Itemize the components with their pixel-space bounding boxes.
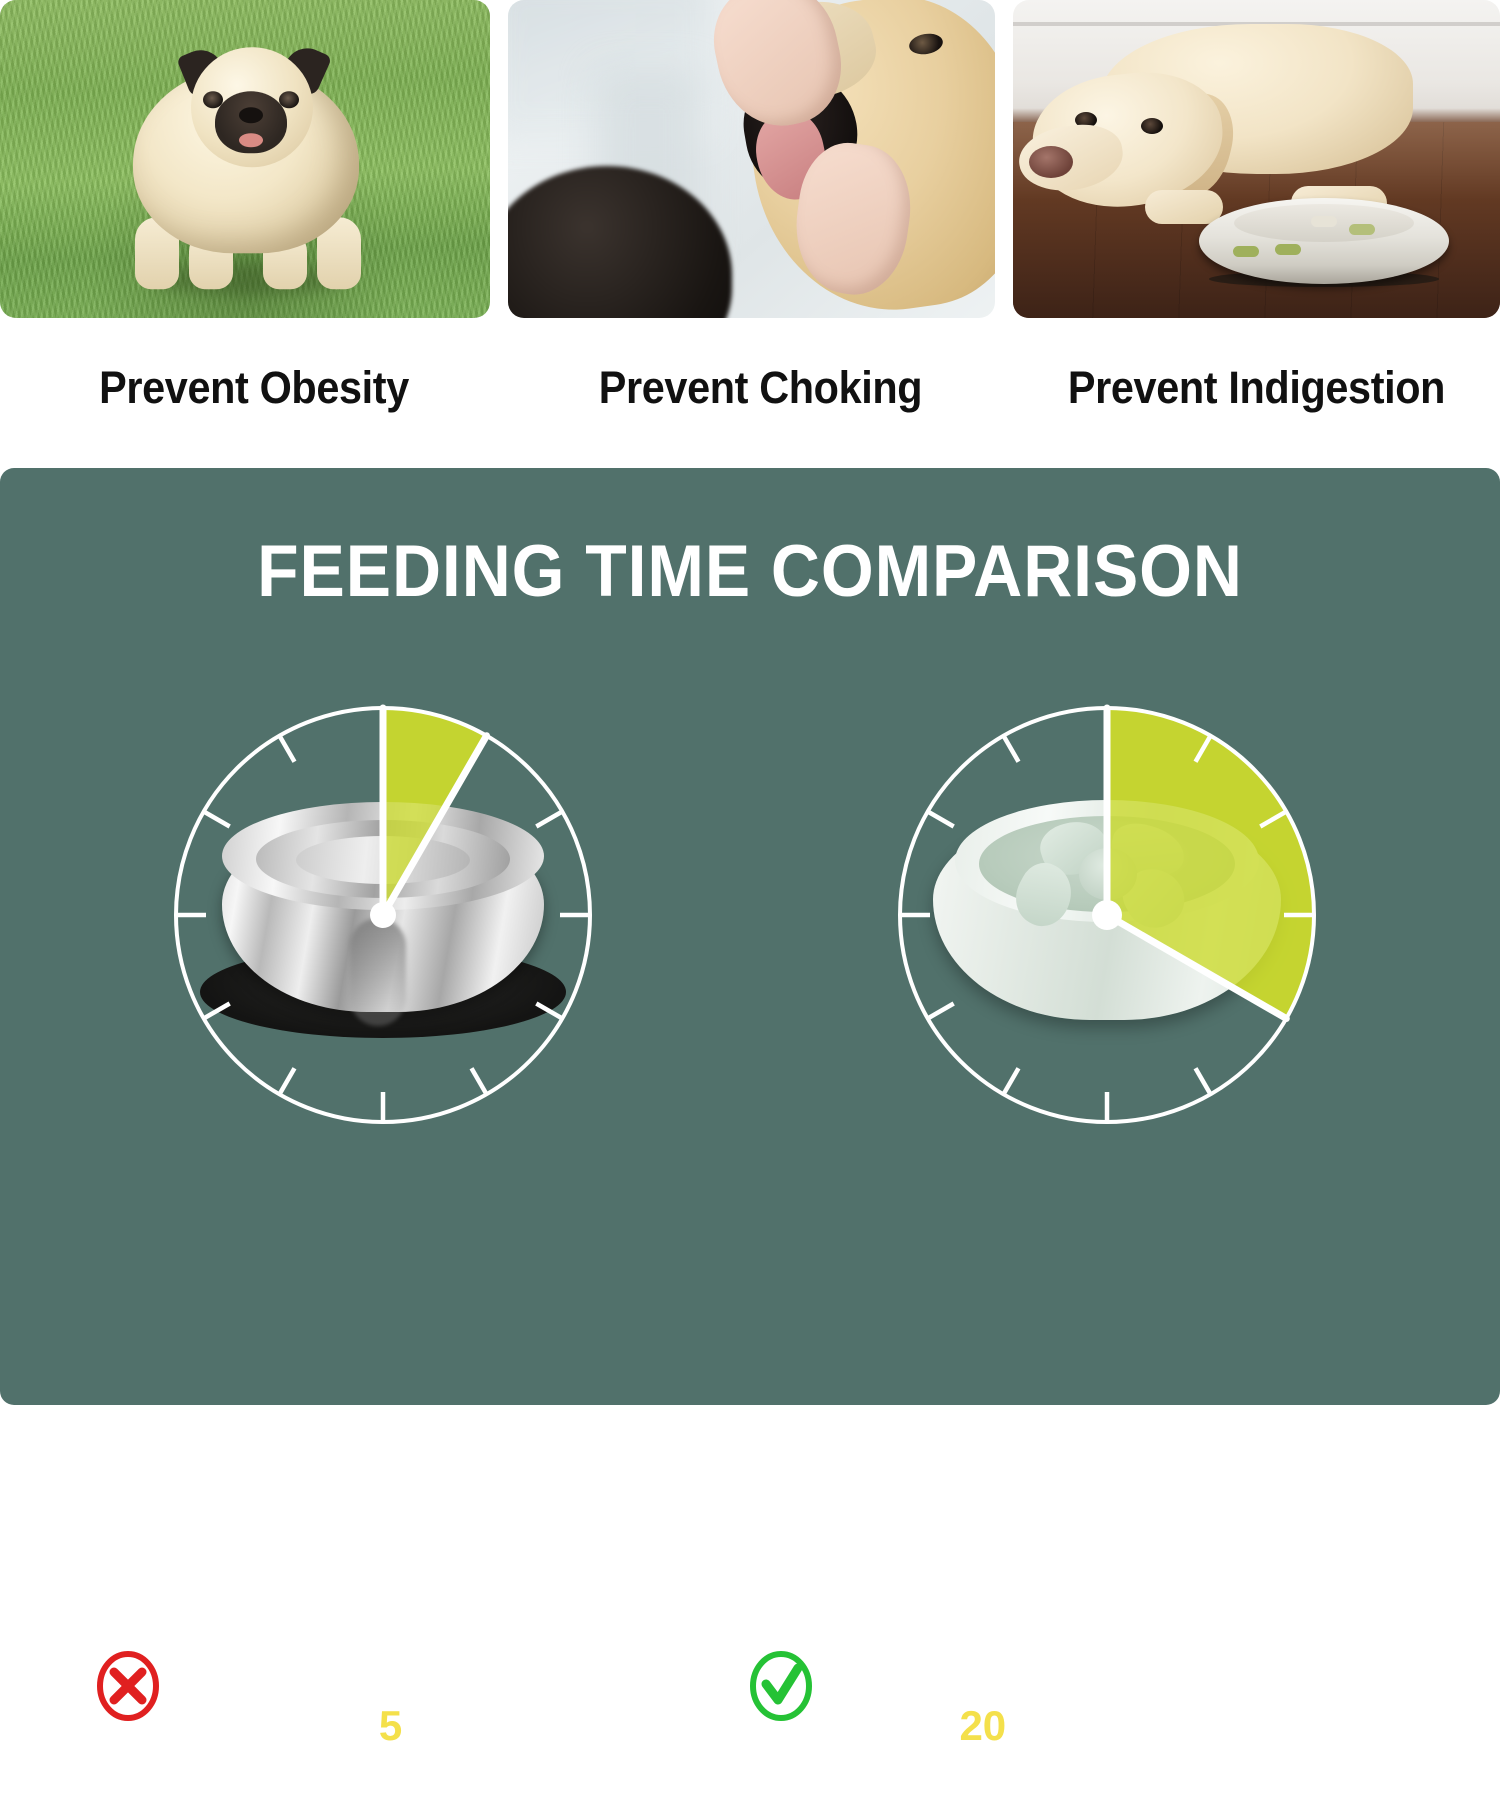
caption-prevent-choking: Prevent Choking [528, 322, 993, 454]
photo-strip [0, 0, 1500, 320]
photo-card-prevent-indigestion [1013, 0, 1500, 318]
clock-dial-slow-feeding-bowl [893, 701, 1321, 1129]
cross-circle-icon [95, 1650, 161, 1722]
clock-face-normal-bowl [169, 701, 597, 1129]
clock-dial-normal-bowl [169, 701, 597, 1129]
comparison-labels: Normal Bowl Less than 5 minutes Slow Fee… [0, 1644, 1500, 1794]
sub-suffix: minutes [402, 1702, 561, 1749]
comparison-panel: FEEDING TIME COMPARISON [0, 468, 1500, 1405]
clock-face-slow-feeding-bowl [893, 701, 1321, 1129]
clock-area [0, 468, 1500, 1405]
label-group-normal-bowl: Normal Bowl Less than 5 minutes [95, 1644, 561, 1751]
photo-card-prevent-choking [508, 0, 995, 318]
steel-bowl-illustration [1199, 198, 1449, 284]
label-title-slow-feeding-bowl: Slow Feeding Bowl [838, 1644, 1285, 1697]
check-circle-icon [748, 1650, 814, 1722]
caption-prevent-indigestion: Prevent Indigestion [1032, 322, 1480, 454]
sub-prefix: About [838, 1702, 959, 1749]
pug-illustration [95, 33, 395, 295]
sub-value: 20 [959, 1702, 1006, 1749]
label-sub-slow-feeding-bowl: About 20 minutes [838, 1701, 1285, 1751]
sub-prefix: Less than [185, 1702, 379, 1749]
label-sub-normal-bowl: Less than 5 minutes [185, 1701, 561, 1751]
caption-prevent-obesity: Prevent Obesity [20, 322, 487, 454]
label-title-normal-bowl: Normal Bowl [185, 1644, 561, 1697]
caption-row: Prevent Obesity Prevent Choking Prevent … [0, 322, 1500, 454]
label-group-slow-feeding-bowl: Slow Feeding Bowl About 20 minutes [748, 1644, 1285, 1751]
sub-value: 5 [379, 1702, 402, 1749]
photo-card-prevent-obesity [0, 0, 490, 318]
sub-suffix: minutes [1006, 1702, 1165, 1749]
